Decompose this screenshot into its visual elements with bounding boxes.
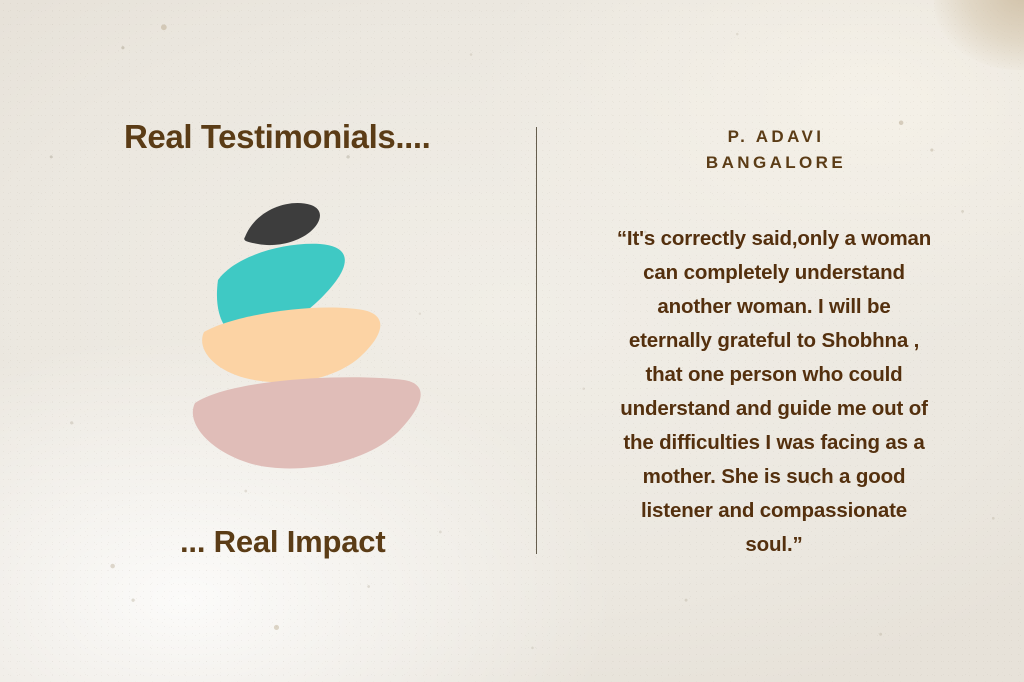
quote-line: soul.” bbox=[566, 528, 982, 562]
quote-line: another woman. I will be bbox=[566, 290, 982, 324]
author-name: P. ADAVI bbox=[576, 124, 976, 150]
quote-line: eternally grateful to Shobhna , bbox=[566, 324, 982, 358]
pebble-rose-shape bbox=[193, 377, 421, 468]
quote-line: the difficulties I was facing as a bbox=[566, 426, 982, 460]
testimonial-quote: “It's correctly said,only a woman can co… bbox=[566, 222, 982, 562]
column-divider bbox=[536, 127, 537, 554]
quote-line: “It's correctly said,only a woman bbox=[566, 222, 982, 256]
page-title: Real Testimonials.... bbox=[124, 118, 524, 156]
quote-line: can completely understand bbox=[566, 256, 982, 290]
testimonial-graphic: Real Testimonials.... ... Real Impact P.… bbox=[0, 0, 1024, 682]
author-location: BANGALORE bbox=[576, 150, 976, 176]
quote-line: understand and guide me out of bbox=[566, 392, 982, 426]
pebble-charcoal-shape bbox=[244, 203, 320, 245]
quote-line: listener and compassionate bbox=[566, 494, 982, 528]
stacked-pebbles-illustration bbox=[180, 190, 450, 480]
page-tagline: ... Real Impact bbox=[180, 524, 520, 560]
quote-line: mother. She is such a good bbox=[566, 460, 982, 494]
testimonial-attribution: P. ADAVI BANGALORE bbox=[576, 124, 976, 177]
quote-line: that one person who could bbox=[566, 358, 982, 392]
